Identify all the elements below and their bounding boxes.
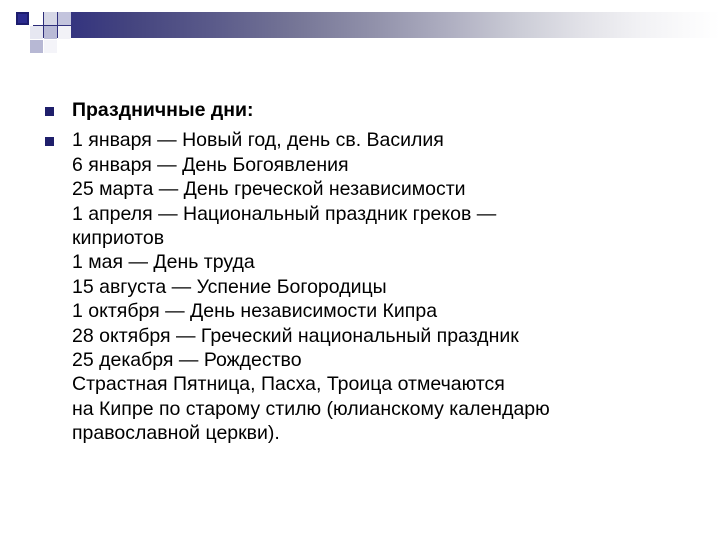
gradient-band xyxy=(33,12,720,38)
holiday-line: 28 октября — Греческий национальный праз… xyxy=(72,324,682,348)
holiday-line: 1 мая — День труда xyxy=(72,250,682,274)
holiday-line: 25 декабря — Рождество xyxy=(72,348,682,372)
slide-canvas: Праздничные дни: 1 января — Новый год, д… xyxy=(0,0,720,540)
square-bullet-icon xyxy=(45,107,54,116)
note-line: Страстная Пятница, Пасха, Троица отмечаю… xyxy=(72,372,682,396)
holiday-line: 15 августа — Успение Богородицы xyxy=(72,275,682,299)
holiday-line: 1 октября — День независимости Кипра xyxy=(72,299,682,323)
decorative-square-icon xyxy=(30,40,43,53)
decorative-square-icon xyxy=(44,26,57,39)
decorative-square-icon xyxy=(44,12,57,25)
square-bullet-icon xyxy=(45,137,54,146)
decorative-square-icon xyxy=(30,26,43,39)
holiday-line: 1 апреля — Национальный праздник греков … xyxy=(72,202,682,226)
decorative-square-accent-inner-icon xyxy=(18,14,27,23)
holiday-line: 25 марта — День греческой независимости xyxy=(72,177,682,201)
decorative-square-icon xyxy=(16,26,29,39)
decorative-square-icon xyxy=(58,26,71,39)
slide-header-decoration xyxy=(0,0,720,60)
page-title: Праздничные дни: xyxy=(72,98,682,122)
holiday-line: 1 января — Новый год, день св. Василия xyxy=(72,128,682,152)
note-line: на Кипре по старому стилю (юлианскому ка… xyxy=(72,397,682,421)
note-line: православной церкви). xyxy=(72,421,682,445)
decorative-square-icon xyxy=(30,12,43,25)
holiday-line: 6 января — День Богоявления xyxy=(72,153,682,177)
slide-body: Праздничные дни: 1 января — Новый год, д… xyxy=(42,98,682,446)
holiday-line-continuation: киприотов xyxy=(72,226,682,250)
decorative-square-icon xyxy=(58,12,71,25)
bullet-item-heading: Праздничные дни: xyxy=(42,98,682,122)
bullet-item-holidays: 1 января — Новый год, день св. Василия 6… xyxy=(42,128,682,445)
decorative-square-icon xyxy=(44,40,57,53)
